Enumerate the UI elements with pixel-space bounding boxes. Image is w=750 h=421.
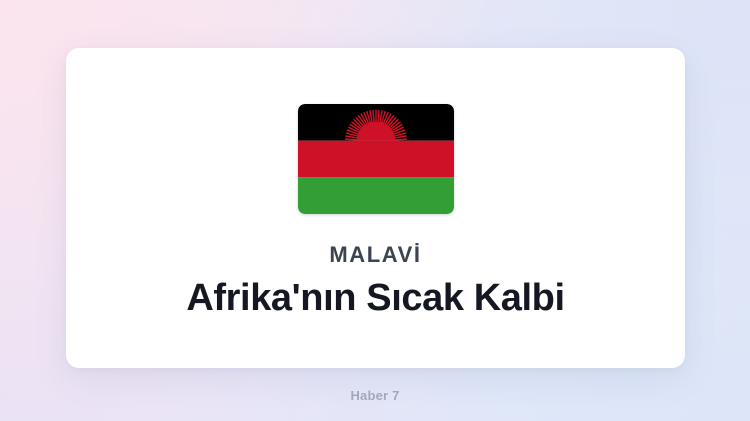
footer-brand: Haber 7 bbox=[0, 388, 750, 403]
headline-title: Afrika'nın Sıcak Kalbi bbox=[66, 276, 685, 321]
flag-container bbox=[298, 104, 454, 214]
malawi-flag-icon bbox=[298, 104, 454, 214]
country-label: MALAVİ bbox=[66, 244, 685, 266]
info-card: MALAVİ Afrika'nın Sıcak Kalbi bbox=[66, 48, 685, 368]
slide-canvas: MALAVİ Afrika'nın Sıcak Kalbi Haber 7 bbox=[0, 0, 750, 421]
flag-stripe-green bbox=[298, 177, 454, 214]
flag-stripe-red bbox=[298, 141, 454, 178]
